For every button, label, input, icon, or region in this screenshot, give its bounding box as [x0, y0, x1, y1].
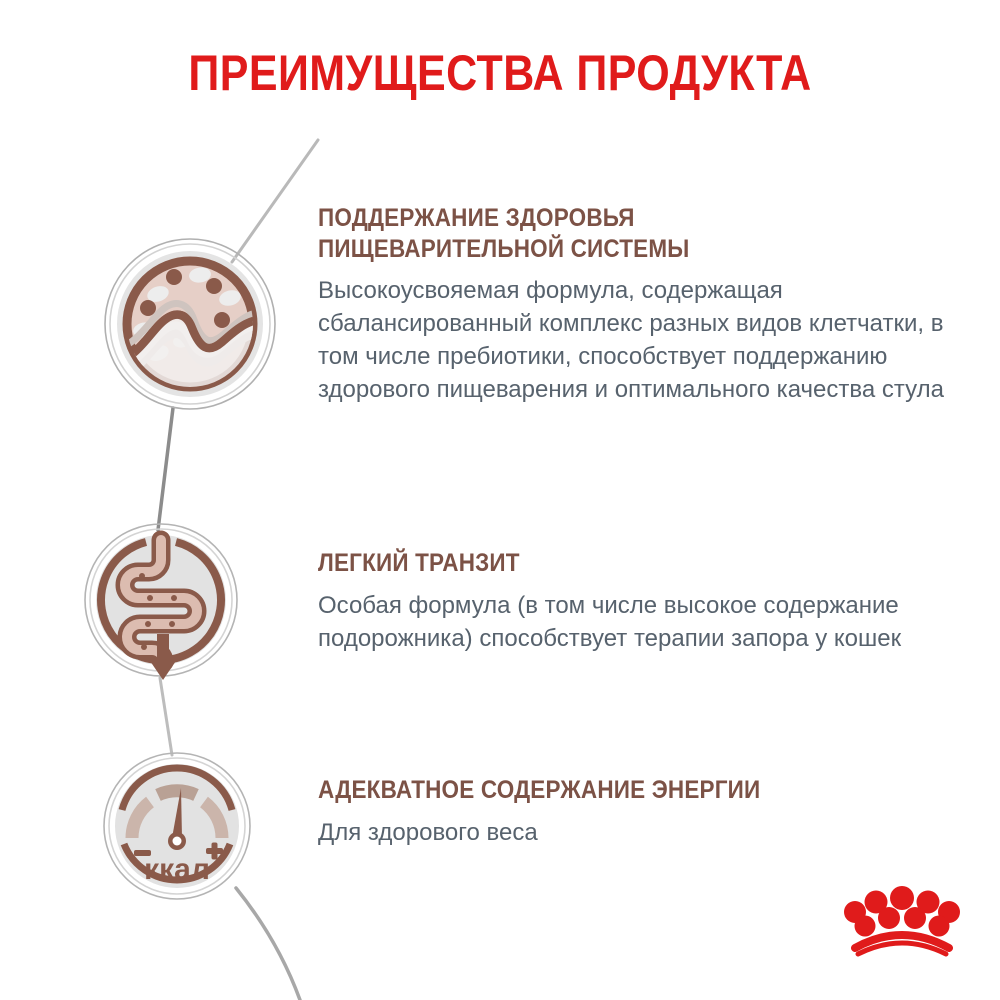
feature-block-easy-transit: ЛЕГКИЙ ТРАНЗИТ Особая формула (в том чис…: [318, 548, 918, 655]
page-title: ПРЕИМУЩЕСТВА ПРОДУКТА: [70, 48, 930, 98]
heading-line: ПИЩЕВАРИТЕЛЬНОЙ СИСТЕМЫ: [318, 234, 894, 265]
heading-line: АДЕКВАТНОЕ СОДЕРЖАНИЕ ЭНЕРГИИ: [318, 775, 876, 806]
feature-block-energy-content: АДЕКВАТНОЕ СОДЕРЖАНИЕ ЭНЕРГИИ Для здоров…: [318, 775, 938, 849]
feature-heading-easy-transit: ЛЕГКИЙ ТРАНЗИТ: [318, 548, 858, 579]
digestive-health-icon: [96, 228, 284, 418]
feature-body-energy-content: Для здорового веса: [318, 816, 918, 849]
royal-canin-crown-logo: [838, 872, 968, 958]
feature-body-digestive-health: Высокоусвояемая формула, содержащая сбал…: [318, 274, 958, 406]
feature-heading-energy-content: АДЕКВАТНОЕ СОДЕРЖАНИЕ ЭНЕРГИИ: [318, 775, 876, 806]
heading-line: ЛЕГКИЙ ТРАНЗИТ: [318, 548, 858, 579]
gauge-label: ккал: [144, 853, 210, 886]
feature-block-digestive-health: ПОДДЕРЖАНИЕ ЗДОРОВЬЯ ПИЩЕВАРИТЕЛЬНОЙ СИС…: [318, 203, 958, 406]
heading-line: ПОДДЕРЖАНИЕ ЗДОРОВЬЯ: [318, 203, 894, 234]
product-benefits-page: ПРЕИМУЩЕСТВА ПРОДУКТА: [0, 0, 1000, 1000]
feature-body-easy-transit: Особая формула (в том числе высокое соде…: [318, 589, 908, 655]
energy-content-icon: ккал: [98, 746, 256, 906]
easy-transit-icon: [78, 516, 244, 684]
feature-heading-digestive-health: ПОДДЕРЖАНИЕ ЗДОРОВЬЯ ПИЩЕВАРИТЕЛЬНОЙ СИС…: [318, 203, 894, 264]
